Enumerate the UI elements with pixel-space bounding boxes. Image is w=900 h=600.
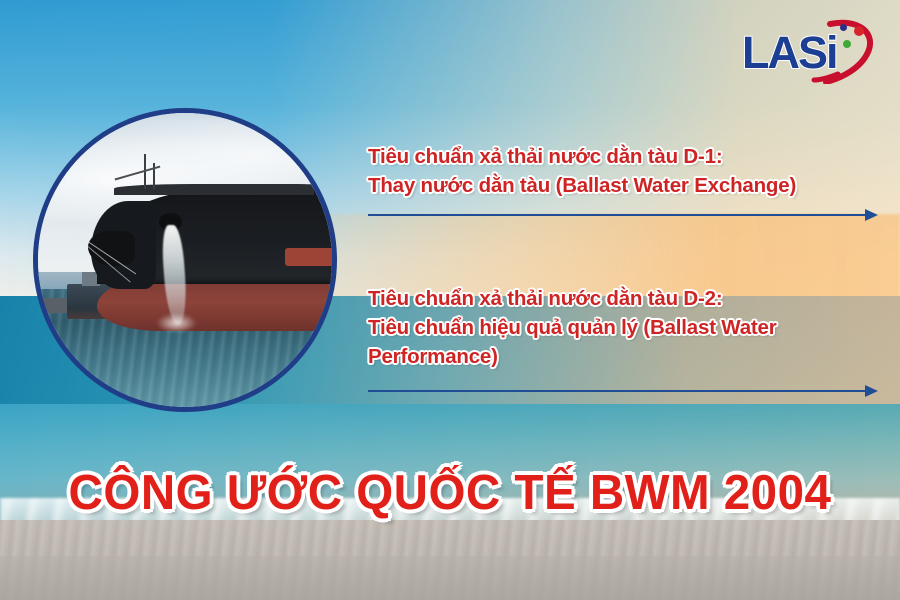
arrow-d2-shaft (368, 390, 866, 392)
arrow-d1-icon (368, 209, 878, 221)
callout-d1-line-2: Thay nước dằn tàu (Ballast Water Exchang… (368, 171, 796, 200)
callout-d1: Tiêu chuẩn xả thải nước dằn tàu D-1: Tha… (368, 142, 796, 200)
arrow-d2-head (865, 385, 878, 397)
callout-d2-line-2: Tiêu chuẩn hiệu quả quản lý (Ballast Wat… (368, 313, 777, 342)
ship-photo-circle (33, 108, 337, 412)
logo-dot-green-icon (843, 40, 851, 48)
background-dry-sand (0, 556, 900, 600)
arrow-d1-shaft (368, 214, 866, 216)
logo-dot-red-icon (854, 26, 864, 36)
arrow-d1-head (865, 209, 878, 221)
logo-wordmark: LASi (742, 30, 837, 75)
arrow-d2-icon (368, 385, 878, 397)
callout-d2-line-3: Performance) (368, 342, 777, 371)
photo-water-splash (156, 313, 197, 334)
callout-d2-line-1: Tiêu chuẩn xả thải nước dằn tàu D-2: (368, 284, 777, 313)
callout-d1-line-1: Tiêu chuẩn xả thải nước dằn tàu D-1: (368, 142, 796, 171)
callout-d2: Tiêu chuẩn xả thải nước dằn tàu D-2: Tiê… (368, 284, 777, 371)
lasi-logo[interactable]: LASi (742, 14, 882, 84)
photo-ship-bulbous-bow (88, 231, 135, 266)
photo-ship-stern-rail (285, 248, 337, 266)
logo-dot-blue-icon (840, 24, 847, 31)
poster-canvas: LASi Tiêu chuẩn xả thải nước dằn tàu D-1… (0, 0, 900, 600)
page-title: CÔNG ƯỚC QUỐC TẾ BWM 2004 (14, 465, 887, 521)
